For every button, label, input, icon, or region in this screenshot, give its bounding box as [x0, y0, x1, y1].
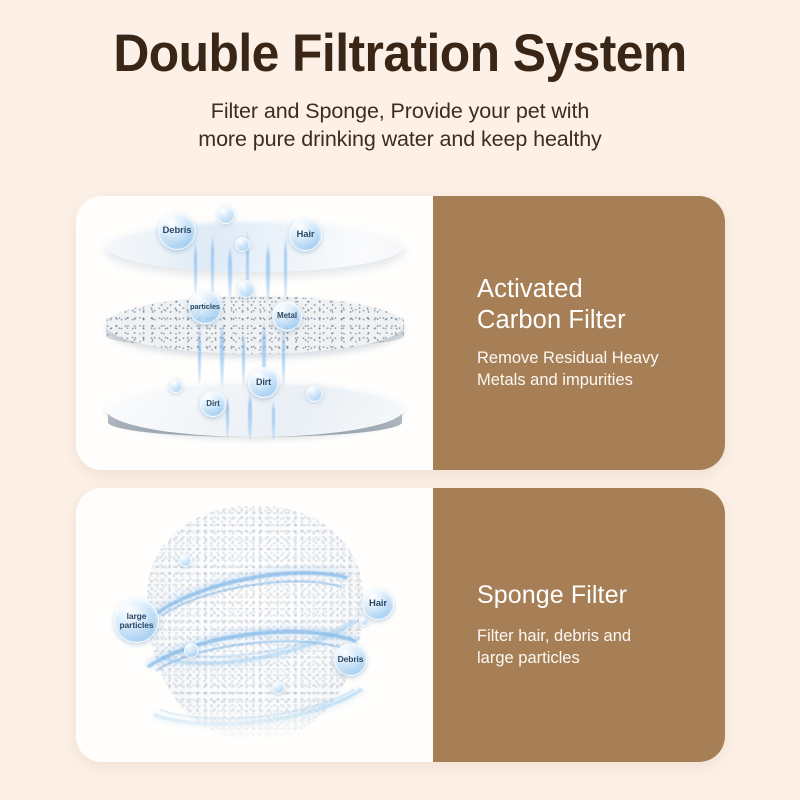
- bubble-label-particles: particles: [188, 290, 222, 324]
- bubble-label-debris: Debris: [158, 212, 196, 250]
- bubble-label-metal: Metal: [272, 301, 302, 331]
- page-header: Double Filtration System Filter and Spon…: [0, 0, 800, 154]
- carbon-disc-top-face: [106, 296, 404, 354]
- filter-disc-stack: Debris Hair particles Metal Dirt Dirt: [76, 196, 433, 470]
- feature-card-sponge-filter[interactable]: large particles Hair Debris Sponge Filte…: [76, 488, 725, 762]
- water-bubble: [184, 643, 199, 658]
- carbon-granule-disc: [106, 296, 404, 354]
- feature-card-activated-carbon-filter[interactable]: Debris Hair particles Metal Dirt Dirt Ac…: [76, 196, 725, 470]
- bubble-label-large-particles: large particles: [114, 598, 159, 643]
- page-title: Double Filtration System: [24, 26, 776, 82]
- top-filter-disc: [106, 220, 404, 272]
- carbon-filter-text-panel: Activated Carbon Filter Remove Residual …: [433, 196, 725, 470]
- subtitle-line-2: more pure drinking water and keep health…: [0, 125, 800, 154]
- bubble-label-dirt-upper: Dirt: [248, 367, 279, 398]
- sponge-filter-text-panel: Sponge Filter Filter hair, debris and la…: [433, 488, 725, 762]
- carbon-filter-illustration: Debris Hair particles Metal Dirt Dirt: [76, 196, 433, 470]
- bubble-label-debris: Debris: [334, 643, 367, 676]
- subtitle-line-1: Filter and Sponge, Provide your pet with: [0, 97, 800, 126]
- water-bubble: [359, 616, 369, 626]
- bubble-label-dirt-lower: Dirt: [200, 391, 226, 417]
- card-heading: Sponge Filter: [477, 580, 699, 611]
- water-bubble: [272, 681, 285, 694]
- sponge-bottom-fade: [135, 702, 375, 762]
- bubble-label-hair: Hair: [289, 218, 322, 251]
- water-bubble: [237, 280, 255, 298]
- water-bubble: [306, 385, 323, 402]
- card-description: Remove Residual Heavy Metals and impurit…: [477, 348, 699, 392]
- card-description: Filter hair, debris and large particles: [477, 626, 699, 670]
- water-bubble: [179, 554, 192, 567]
- water-bubble: [169, 379, 183, 393]
- card-heading: Activated Carbon Filter: [477, 274, 699, 336]
- water-bubble: [235, 237, 250, 252]
- water-bubble: [217, 206, 235, 224]
- sponge-illustration-group: large particles Hair Debris: [76, 488, 433, 762]
- bubble-label-hair: Hair: [362, 588, 394, 620]
- sponge-filter-illustration: large particles Hair Debris: [76, 488, 433, 762]
- page-subtitle: Filter and Sponge, Provide your pet with…: [0, 97, 800, 154]
